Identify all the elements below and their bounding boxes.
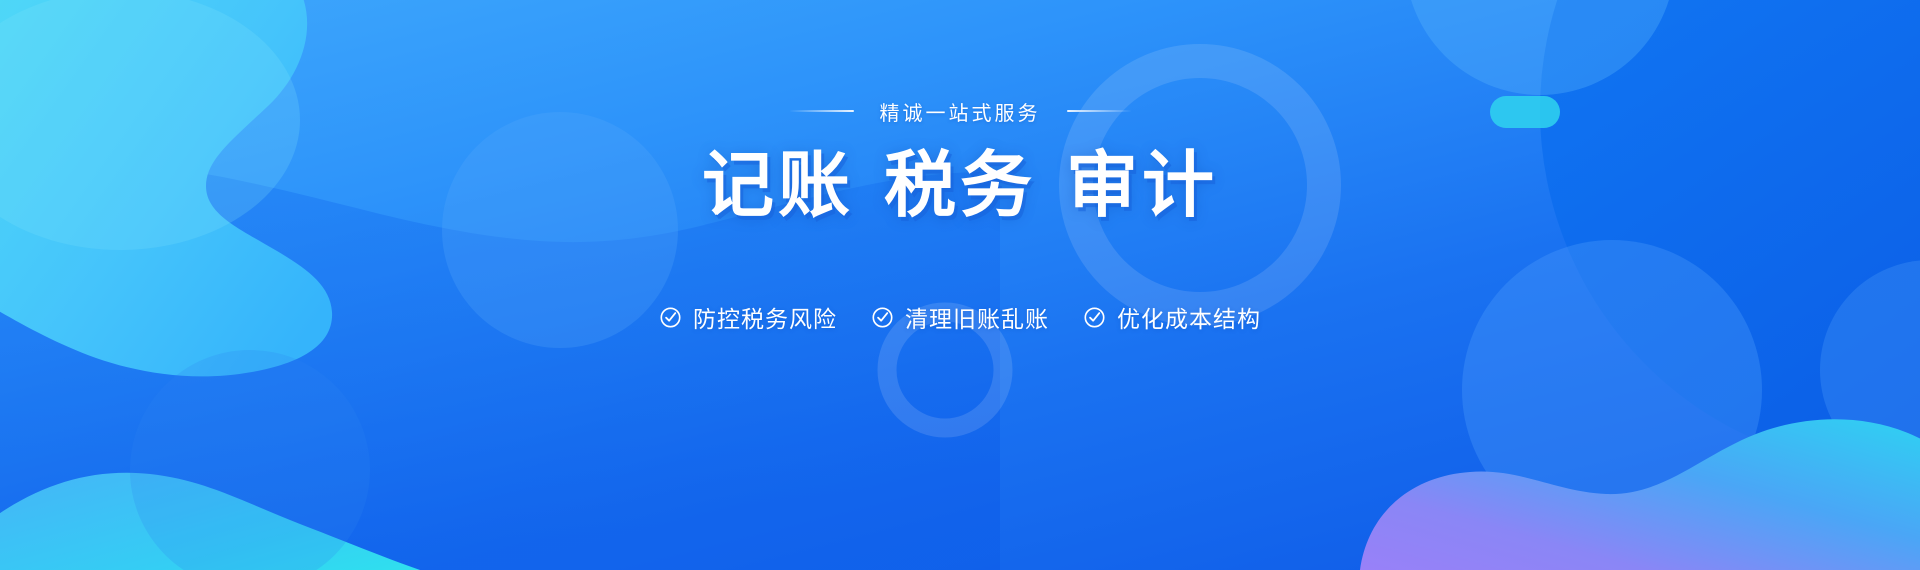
feature-item: 防控税务风险: [659, 300, 837, 334]
feature-label: 优化成本结构: [1117, 300, 1261, 334]
check-circle-icon: [871, 306, 894, 329]
check-circle-icon: [1083, 306, 1106, 329]
feature-label: 防控税务风险: [693, 300, 837, 334]
decorative-rule-right: [1067, 110, 1131, 112]
decorative-rule-left: [790, 110, 854, 112]
feature-list: 防控税务风险 清理旧账乱账 优化成本结构: [659, 300, 1261, 334]
title-word-2: 税务: [884, 146, 1036, 226]
feature-item: 优化成本结构: [1083, 300, 1261, 334]
hero-content: 精诚一站式服务 记账税务审计 防控税务风险 清理旧账乱账: [0, 0, 1920, 570]
title-word-3: 审计: [1066, 146, 1218, 226]
feature-label: 清理旧账乱账: [905, 300, 1049, 334]
hero-banner: 精诚一站式服务 记账税务审计 防控税务风险 清理旧账乱账: [0, 0, 1920, 570]
title-word-1: 记账: [702, 146, 854, 226]
check-circle-icon: [659, 306, 682, 329]
feature-item: 清理旧账乱账: [871, 300, 1049, 334]
page-title: 记账税务审计: [702, 150, 1218, 222]
eyebrow-text: 精诚一站式服务: [880, 97, 1041, 126]
eyebrow-row: 精诚一站式服务: [790, 98, 1131, 124]
